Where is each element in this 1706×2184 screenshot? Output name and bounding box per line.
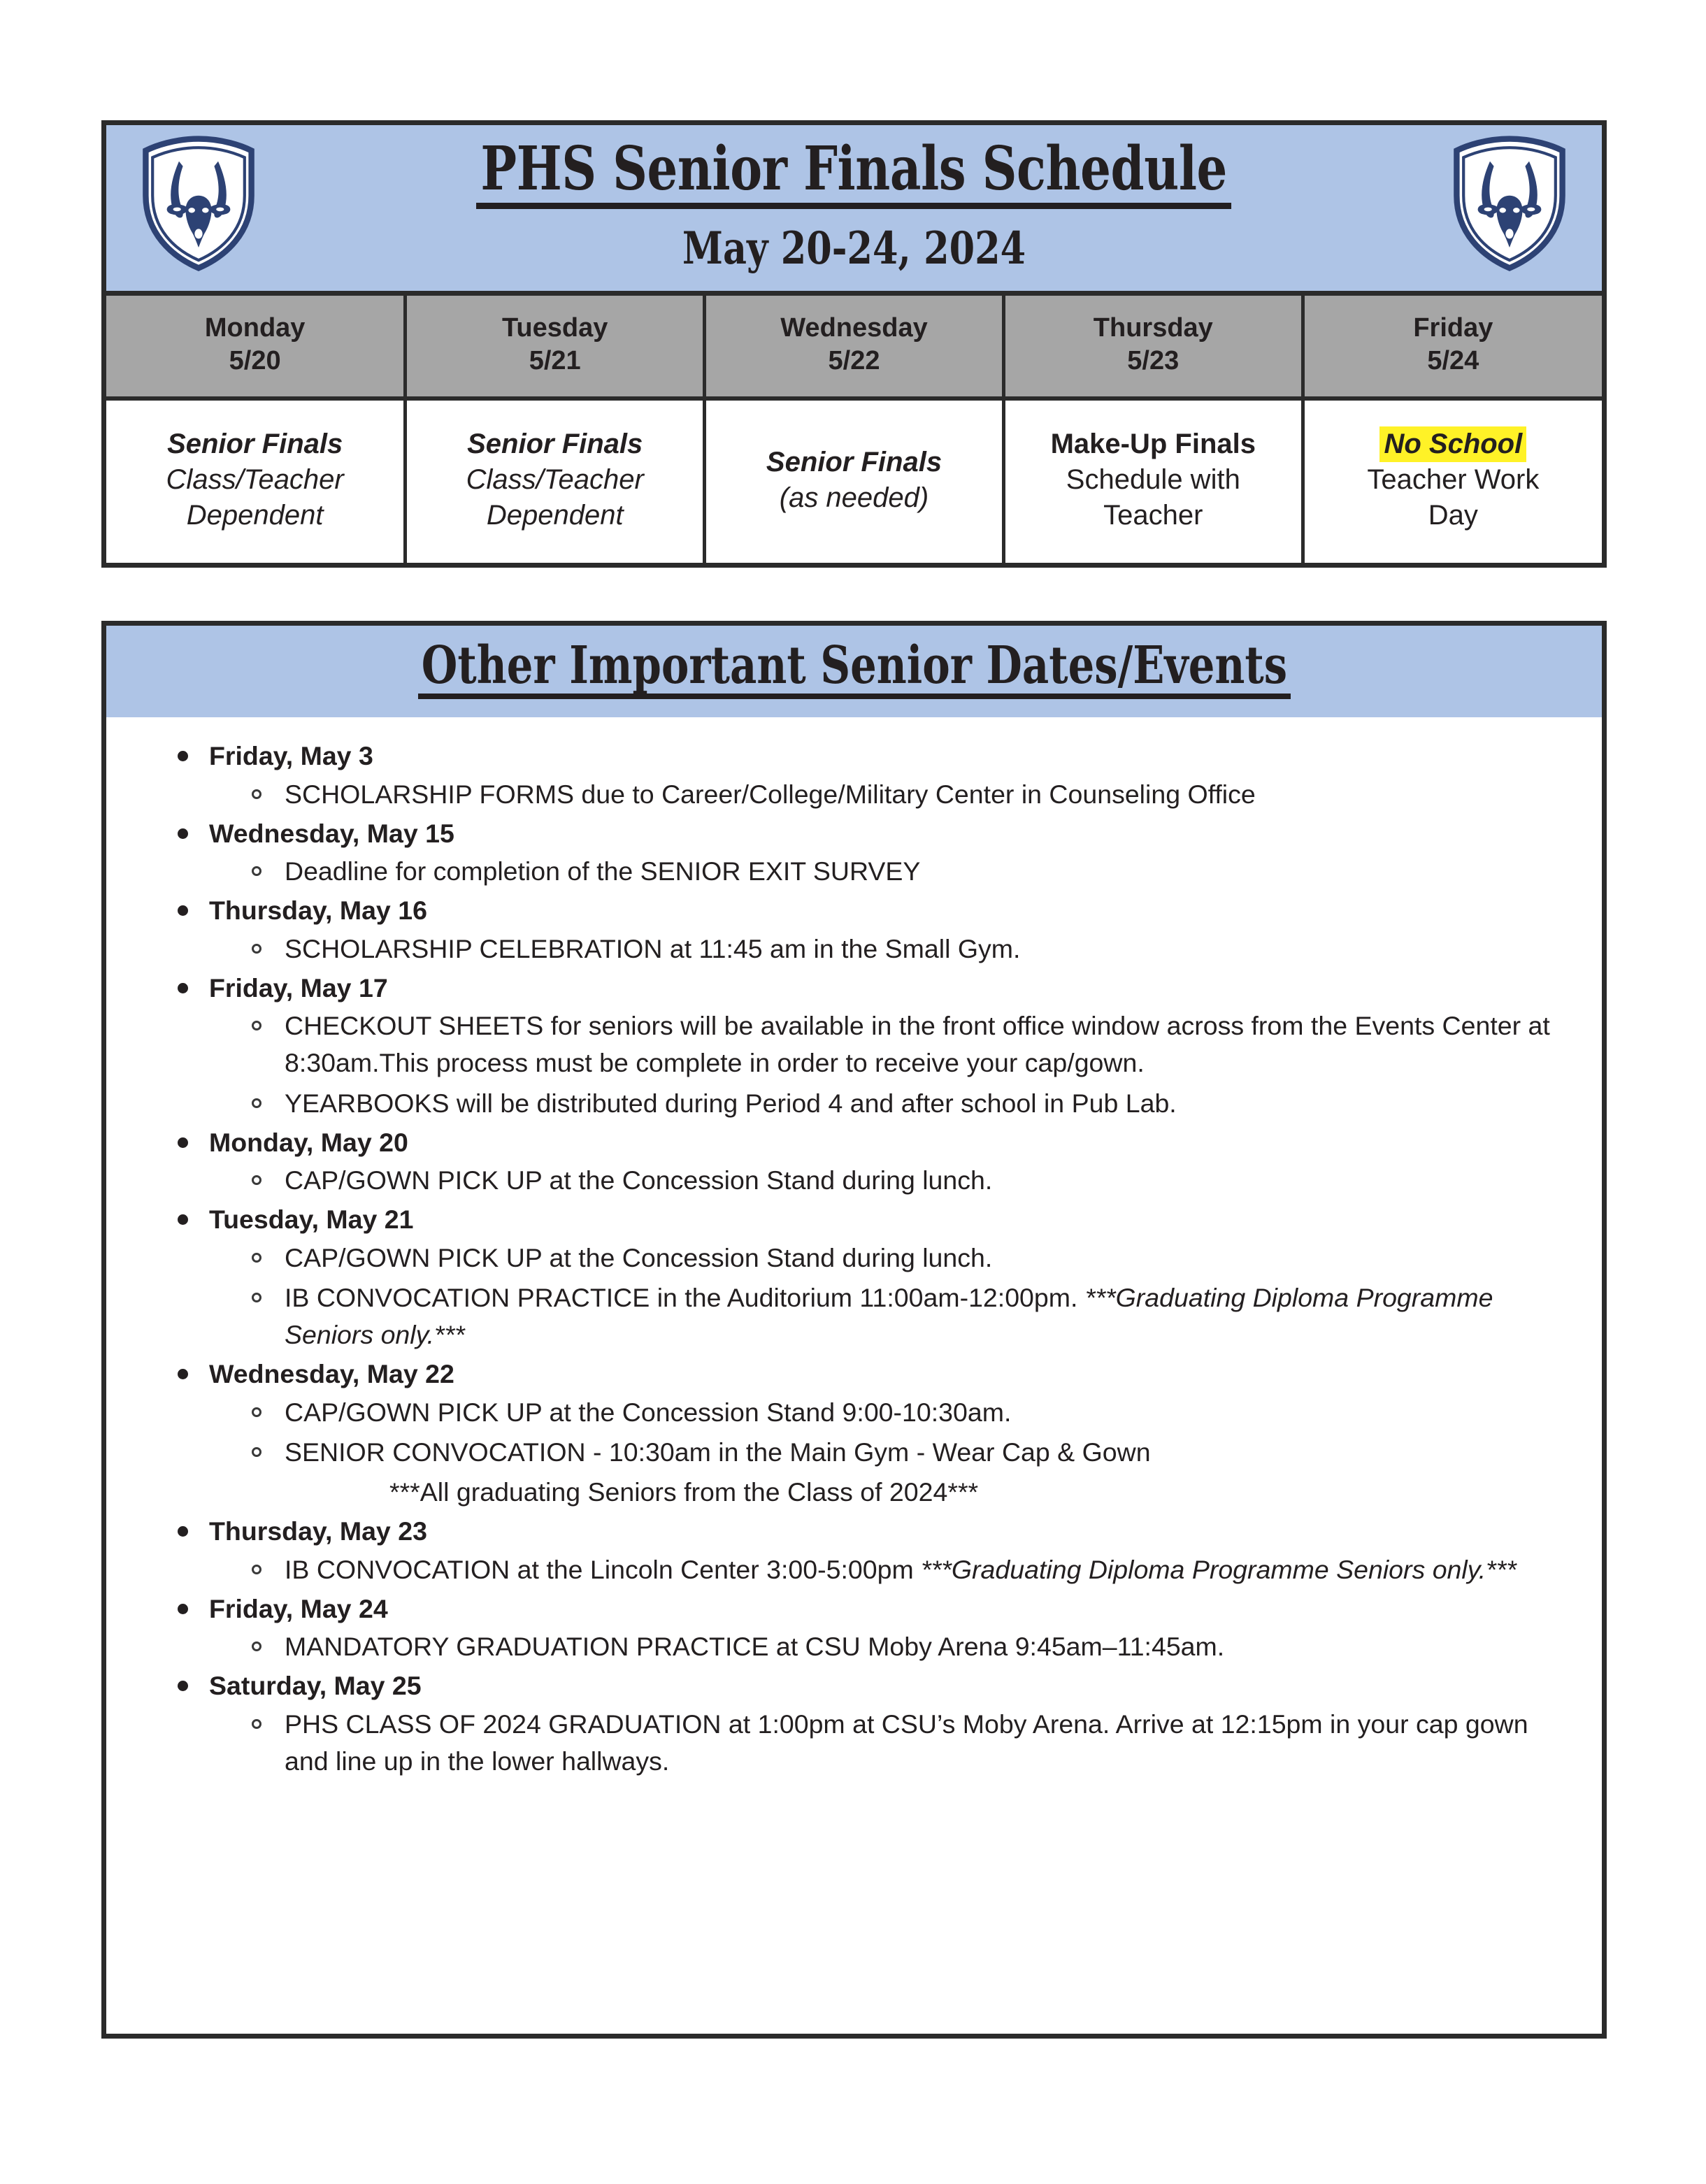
list-item: CAP/GOWN PICK UP at the Concession Stand… bbox=[134, 1394, 1574, 1431]
header-day: Thursday bbox=[1010, 312, 1297, 344]
list-item: Deadline for completion of the SENIOR EX… bbox=[134, 853, 1574, 890]
list-item: Friday, May 3 SCHOLARSHIP FORMS due to C… bbox=[134, 738, 1574, 813]
event-day-label: Saturday, May 25 bbox=[134, 1668, 1574, 1703]
list-item: SCHOLARSHIP CELEBRATION at 11:45 am in t… bbox=[134, 931, 1574, 968]
finals-week-table: Monday 5/20 Tuesday 5/21 Wednesday 5/22 … bbox=[106, 291, 1602, 563]
cell-line-3: Dependent bbox=[414, 498, 696, 533]
list-item: CHECKOUT SHEETS for seniors will be avai… bbox=[134, 1007, 1574, 1082]
cell-line-3: Day bbox=[1312, 498, 1595, 533]
header-day: Wednesday bbox=[710, 312, 998, 344]
event-day-label: Tuesday, May 21 bbox=[134, 1202, 1574, 1237]
cell-line-2: Schedule with bbox=[1012, 462, 1294, 498]
column-header-tuesday: Tuesday 5/21 bbox=[406, 293, 705, 398]
cell-line-2: (as needed) bbox=[713, 480, 995, 516]
event-day-label: Friday, May 24 bbox=[134, 1591, 1574, 1626]
senior-finals-schedule-box: PHS Senior Finals Schedule May 20-24, 20… bbox=[101, 120, 1607, 568]
cell-thursday: Make-Up Finals Schedule with Teacher bbox=[1003, 398, 1303, 563]
event-day-label: Monday, May 20 bbox=[134, 1125, 1574, 1160]
page-subtitle: May 20-24, 2024 bbox=[241, 224, 1468, 273]
table-header-row: Monday 5/20 Tuesday 5/21 Wednesday 5/22 … bbox=[106, 293, 1602, 398]
header-day: Friday bbox=[1309, 312, 1598, 344]
event-sub-list: Deadline for completion of the SENIOR EX… bbox=[134, 853, 1574, 890]
header-day: Tuesday bbox=[411, 312, 698, 344]
event-sub-list: CAP/GOWN PICK UP at the Concession Stand… bbox=[134, 1394, 1574, 1472]
cell-line-1: Senior Finals bbox=[414, 426, 696, 462]
list-item: Saturday, May 25 PHS CLASS OF 2024 GRADU… bbox=[134, 1668, 1574, 1780]
list-item: SCHOLARSHIP FORMS due to Career/College/… bbox=[134, 776, 1574, 813]
list-item: SENIOR CONVOCATION - 10:30am in the Main… bbox=[134, 1434, 1574, 1471]
event-sub-list: IB CONVOCATION at the Lincoln Center 3:0… bbox=[134, 1551, 1574, 1588]
list-item: IB CONVOCATION at the Lincoln Center 3:0… bbox=[134, 1551, 1574, 1588]
event-day-label: Friday, May 17 bbox=[134, 970, 1574, 1005]
header-date: 5/20 bbox=[110, 345, 399, 377]
event-sub-list: MANDATORY GRADUATION PRACTICE at CSU Mob… bbox=[134, 1628, 1574, 1665]
header-date: 5/24 bbox=[1309, 345, 1598, 377]
cell-line-1: Senior Finals bbox=[713, 445, 995, 480]
list-item: Friday, May 17 CHECKOUT SHEETS for senio… bbox=[134, 970, 1574, 1122]
class-of-2024-note: ***All graduating Seniors from the Class… bbox=[134, 1474, 1574, 1511]
cell-friday: No School Teacher Work Day bbox=[1303, 398, 1602, 563]
event-sub-list: PHS CLASS OF 2024 GRADUATION at 1:00pm a… bbox=[134, 1706, 1574, 1781]
list-item: Tuesday, May 21 CAP/GOWN PICK UP at the … bbox=[134, 1202, 1574, 1353]
schedule-banner: PHS Senior Finals Schedule May 20-24, 20… bbox=[106, 125, 1602, 291]
cell-line-1: Senior Finals bbox=[113, 426, 396, 462]
events-banner: Other Important Senior Dates/Events bbox=[106, 626, 1602, 717]
events-section-title: Other Important Senior Dates/Events bbox=[418, 640, 1291, 699]
column-header-wednesday: Wednesday 5/22 bbox=[705, 293, 1004, 398]
column-header-monday: Monday 5/20 bbox=[106, 293, 406, 398]
event-day-label: Wednesday, May 22 bbox=[134, 1356, 1574, 1391]
event-sub-list: SCHOLARSHIP FORMS due to Career/College/… bbox=[134, 776, 1574, 813]
other-important-dates-box: Other Important Senior Dates/Events Frid… bbox=[101, 621, 1607, 2039]
cell-line-2: Class/Teacher bbox=[113, 462, 396, 498]
list-item: Thursday, May 23 IB CONVOCATION at the L… bbox=[134, 1514, 1574, 1588]
phs-impala-shield-logo bbox=[1451, 135, 1568, 272]
event-sub-list: CAP/GOWN PICK UP at the Concession Stand… bbox=[134, 1240, 1574, 1354]
item-italic-note: ***Graduating Diploma Programme Seniors … bbox=[921, 1555, 1517, 1584]
cell-line-2: Class/Teacher bbox=[414, 462, 696, 498]
cell-line-3: Teacher bbox=[1012, 498, 1294, 533]
finals-schedule-flyer: PHS Senior Finals Schedule May 20-24, 20… bbox=[0, 0, 1706, 2184]
cell-tuesday: Senior Finals Class/Teacher Dependent bbox=[406, 398, 705, 563]
header-date: 5/21 bbox=[411, 345, 698, 377]
header-day: Monday bbox=[110, 312, 399, 344]
list-item: Wednesday, May 15 Deadline for completio… bbox=[134, 816, 1574, 891]
event-day-label: Thursday, May 23 bbox=[134, 1514, 1574, 1549]
page-title: PHS Senior Finals Schedule bbox=[476, 138, 1231, 209]
item-text: IB CONVOCATION at the Lincoln Center 3:0… bbox=[285, 1555, 921, 1584]
event-day-label: Wednesday, May 15 bbox=[134, 816, 1574, 851]
cell-line-3: Dependent bbox=[113, 498, 396, 533]
events-body: Friday, May 3 SCHOLARSHIP FORMS due to C… bbox=[106, 717, 1602, 1780]
list-item: IB CONVOCATION PRACTICE in the Auditoriu… bbox=[134, 1279, 1574, 1354]
column-header-thursday: Thursday 5/23 bbox=[1003, 293, 1303, 398]
header-date: 5/23 bbox=[1010, 345, 1297, 377]
event-day-label: Friday, May 3 bbox=[134, 738, 1574, 773]
list-item: Thursday, May 16 SCHOLARSHIP CELEBRATION… bbox=[134, 893, 1574, 968]
list-item: CAP/GOWN PICK UP at the Concession Stand… bbox=[134, 1162, 1574, 1199]
phs-impala-shield-logo bbox=[140, 135, 257, 272]
list-item: Monday, May 20 CAP/GOWN PICK UP at the C… bbox=[134, 1125, 1574, 1200]
header-date: 5/22 bbox=[710, 345, 998, 377]
event-sub-list: CAP/GOWN PICK UP at the Concession Stand… bbox=[134, 1162, 1574, 1199]
cell-line-2: Teacher Work bbox=[1312, 462, 1595, 498]
no-school-badge: No School bbox=[1379, 426, 1526, 462]
event-day-label: Thursday, May 16 bbox=[134, 893, 1574, 928]
cell-monday: Senior Finals Class/Teacher Dependent bbox=[106, 398, 406, 563]
table-row: Senior Finals Class/Teacher Dependent Se… bbox=[106, 398, 1602, 563]
event-sub-list: CHECKOUT SHEETS for seniors will be avai… bbox=[134, 1007, 1574, 1122]
events-day-list: Friday, May 3 SCHOLARSHIP FORMS due to C… bbox=[134, 738, 1574, 1780]
list-item: PHS CLASS OF 2024 GRADUATION at 1:00pm a… bbox=[134, 1706, 1574, 1781]
list-item: Wednesday, May 22 CAP/GOWN PICK UP at th… bbox=[134, 1356, 1574, 1511]
event-sub-list: SCHOLARSHIP CELEBRATION at 11:45 am in t… bbox=[134, 931, 1574, 968]
cell-line-1: Make-Up Finals bbox=[1012, 426, 1294, 462]
cell-wednesday: Senior Finals (as needed) bbox=[705, 398, 1004, 563]
list-item: YEARBOOKS will be distributed during Per… bbox=[134, 1085, 1574, 1122]
list-item: Friday, May 24 MANDATORY GRADUATION PRAC… bbox=[134, 1591, 1574, 1666]
column-header-friday: Friday 5/24 bbox=[1303, 293, 1602, 398]
item-text: IB CONVOCATION PRACTICE in the Auditoriu… bbox=[285, 1283, 1085, 1312]
list-item: CAP/GOWN PICK UP at the Concession Stand… bbox=[134, 1240, 1574, 1277]
list-item: MANDATORY GRADUATION PRACTICE at CSU Mob… bbox=[134, 1628, 1574, 1665]
